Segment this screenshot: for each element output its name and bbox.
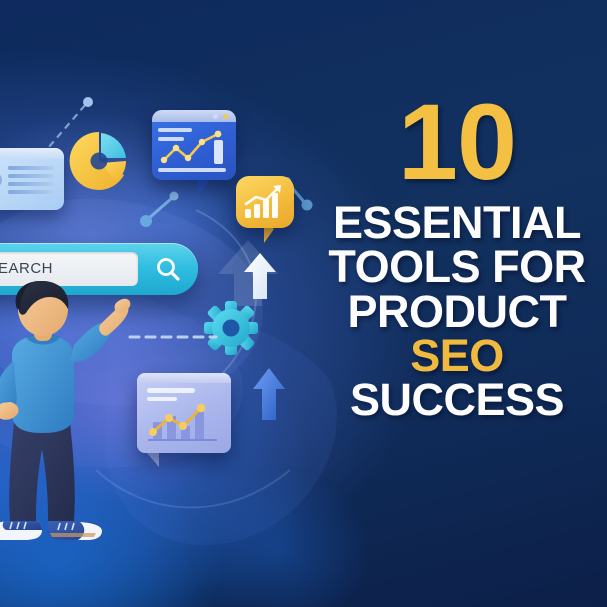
window-titlebar xyxy=(152,110,236,122)
arrow-up-white-icon xyxy=(243,251,277,301)
card-titlebar xyxy=(0,148,64,159)
bubble-body xyxy=(236,176,294,228)
window-body xyxy=(137,373,231,453)
arrow-up-blue-icon xyxy=(252,366,286,422)
line-chart-bubble-icon xyxy=(152,110,236,196)
headline-panel: 10 ESSENTIAL TOOLS FOR PRODUCT SEO SUCCE… xyxy=(307,0,607,607)
headline-line-1: ESSENTIAL xyxy=(333,201,581,245)
card-avatar-circle xyxy=(0,172,2,188)
headline-line-3: PRODUCT xyxy=(348,290,567,334)
search-input-value: EARCH xyxy=(0,260,53,277)
window-titlebar xyxy=(137,373,231,383)
card-text-lines xyxy=(8,166,54,198)
headline-number: 10 xyxy=(398,92,516,191)
growth-chart-bubble-icon xyxy=(236,176,298,244)
headline-line-2: TOOLS FOR xyxy=(328,245,585,289)
magnifier-icon[interactable] xyxy=(155,256,181,282)
headline-line-5: SUCCESS xyxy=(350,378,564,422)
3d-person-pointing xyxy=(0,281,138,553)
seo-poster: EARCH xyxy=(0,0,607,607)
headline-line-seo: SEO xyxy=(410,334,504,378)
bubble-body xyxy=(152,110,236,180)
document-card-icon xyxy=(0,148,64,210)
gear-icon xyxy=(203,300,259,356)
pie-chart-icon xyxy=(68,130,130,192)
bar-chart-window-icon xyxy=(137,373,231,471)
